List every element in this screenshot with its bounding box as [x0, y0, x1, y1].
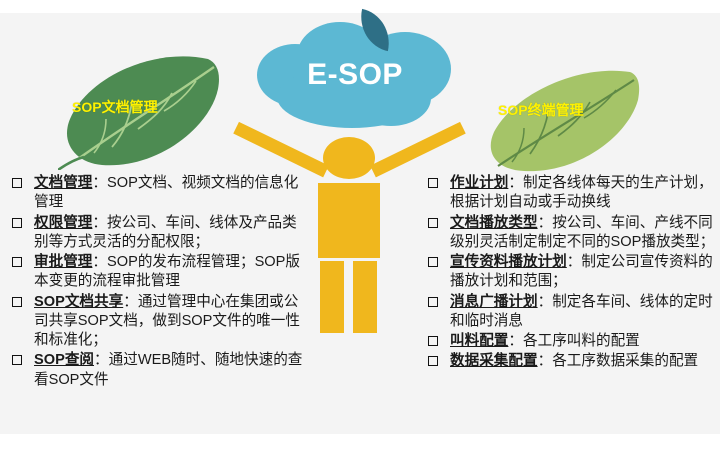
left-bullet-separator: ：: [92, 175, 107, 191]
right-bullet-item: 宣传资料播放计划：制定公司宣传资料的播放计划和范围；: [424, 253, 716, 292]
figure-leg-left: [320, 261, 344, 333]
left-bullet-term: 文档管理: [34, 175, 92, 191]
right-bullet-description: 各工序叫料的配置: [523, 333, 640, 349]
leaf-right-label: SOP终端管理: [498, 100, 584, 120]
bullet-square-icon: [12, 355, 22, 365]
left-bullet-term: SOP查阅: [34, 352, 94, 368]
left-bullet-term: 权限管理: [34, 215, 92, 231]
bullet-square-icon: [428, 356, 438, 366]
right-bullet-separator: ：: [567, 254, 582, 270]
figure-head: [323, 137, 375, 179]
cloud-title: E-SOP: [255, 58, 455, 92]
bullet-square-icon: [428, 297, 438, 307]
leaf-left-group: SOP文档管理: [58, 55, 233, 170]
left-bullet-term: 审批管理: [34, 254, 92, 270]
left-bullet-item: SOP查阅：通过WEB随时、随地快速的查看SOP文件: [8, 351, 308, 390]
leaf-right-icon: [480, 70, 650, 175]
right-bullet-separator: ：: [508, 333, 523, 349]
bullet-square-icon: [12, 297, 22, 307]
right-bullet-term: 文档播放类型: [450, 215, 538, 231]
right-bullet-item: 消息广播计划：制定各车间、线体的定时和临时消息: [424, 293, 716, 332]
left-bullet-separator: ：: [123, 294, 138, 310]
right-bullet-separator: ：: [538, 294, 553, 310]
slide-canvas: SOP文档管理 SOP终端管理 E-SOP 文档管理：SOP文档、视频文档的信息…: [0, 0, 720, 450]
right-bullet-term: 宣传资料播放计划: [450, 254, 567, 270]
leaf-right-group: SOP终端管理: [480, 70, 650, 175]
right-bullet-list: 作业计划：制定各线体每天的生产计划，根据计划自动或手动换线文档播放类型：按公司、…: [424, 174, 716, 373]
right-bullet-item: 作业计划：制定各线体每天的生产计划，根据计划自动或手动换线: [424, 174, 716, 213]
cloud-group: E-SOP: [255, 14, 455, 134]
right-bullet-term: 作业计划: [450, 175, 508, 191]
bullet-square-icon: [12, 257, 22, 267]
left-bullet-item: 文档管理：SOP文档、视频文档的信息化管理: [8, 174, 308, 213]
right-bullet-item: 叫料配置：各工序叫料的配置: [424, 332, 716, 351]
right-bullet-separator: ：: [538, 215, 553, 231]
left-bullet-item: SOP文档共享：通过管理中心在集团或公司共享SOP文档，做到SOP文件的唯一性和…: [8, 293, 308, 351]
bullet-square-icon: [12, 218, 22, 228]
left-bullet-separator: ：: [94, 352, 109, 368]
left-bullet-list: 文档管理：SOP文档、视频文档的信息化管理权限管理：按公司、车间、线体及产品类别…: [8, 174, 308, 391]
bullet-square-icon: [428, 218, 438, 228]
leaf-left-label: SOP文档管理: [72, 97, 158, 117]
right-bullet-separator: ：: [508, 175, 523, 191]
left-bullet-item: 审批管理：SOP的发布流程管理；SOP版本变更的流程审批管理: [8, 253, 308, 292]
figure-body: [318, 183, 380, 258]
bullet-square-icon: [428, 257, 438, 267]
left-bullet-separator: ：: [92, 215, 107, 231]
right-bullet-separator: ：: [538, 353, 553, 369]
bullet-square-icon: [428, 336, 438, 346]
right-bullet-item: 文档播放类型：按公司、车间、产线不同级别灵活制定制定不同的SOP播放类型；: [424, 214, 716, 253]
right-bullet-item: 数据采集配置：各工序数据采集的配置: [424, 352, 716, 371]
right-bullet-term: 叫料配置: [450, 333, 508, 349]
right-bullet-description: 各工序数据采集的配置: [552, 353, 698, 369]
left-bullet-term: SOP文档共享: [34, 294, 123, 310]
figure-leg-right: [353, 261, 377, 333]
right-bullet-term: 消息广播计划: [450, 294, 538, 310]
left-bullet-item: 权限管理：按公司、车间、线体及产品类别等方式灵活的分配权限；: [8, 214, 308, 253]
bullet-square-icon: [428, 178, 438, 188]
bullet-square-icon: [12, 178, 22, 188]
left-bullet-separator: ：: [92, 254, 107, 270]
right-bullet-term: 数据采集配置: [450, 353, 538, 369]
